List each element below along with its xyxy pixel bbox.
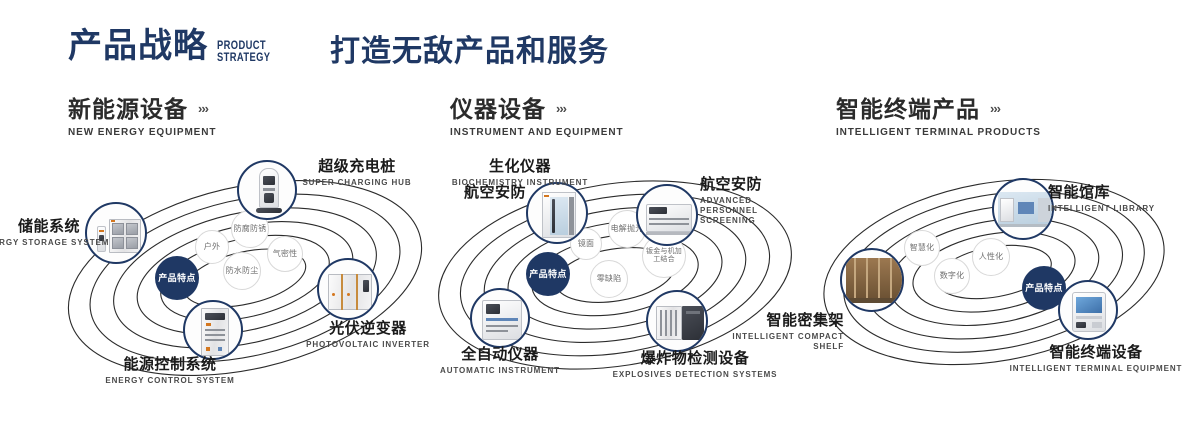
feature-bubble-smart: 智慧化 (904, 230, 940, 266)
section-heading-en: INTELLIGENT TERMINAL PRODUCTS (836, 127, 1041, 138)
section-heading-cn: 智能终端产品 (836, 96, 980, 122)
product-node-intelligent-library[interactable] (992, 178, 1054, 240)
energy-storage-cabinet-icon (87, 204, 145, 262)
cluster-new-energy: 产品特点 户外 防腐防锈 防水防尘 气密性 (55, 160, 435, 390)
product-node-terminal-kiosk[interactable] (1058, 280, 1118, 340)
feature-bubble-airtight: 气密性 (267, 236, 303, 272)
section-heading-cn: 仪器设备 (450, 96, 546, 122)
section-heading-en: NEW ENERGY EQUIPMENT (68, 127, 216, 138)
cluster-instrument: 产品特点 镜面 电解抛光 零缺陷 钣金与机加工结合 航空安防 (430, 160, 810, 390)
product-node-energy-control[interactable] (183, 300, 243, 360)
section-heading-new-energy: 新能源设备 ››› NEW ENERGY EQUIPMENT (68, 96, 216, 138)
product-node-compact-shelf[interactable] (840, 248, 904, 312)
section-heading-en: INSTRUMENT AND EQUIPMENT (450, 127, 623, 138)
control-cabinet-icon (185, 302, 241, 358)
product-label-energy-storage: 储能系统 ENERGY STORAGE SYSTEM (0, 218, 80, 248)
section-heading-intelligent-terminal: 智能终端产品 ››› INTELLIGENT TERMINAL PRODUCTS (836, 96, 1041, 138)
page-title-en: PRODUCT STRATEGY (217, 39, 270, 63)
product-strategy-infographic: 产品战略 PRODUCT STRATEGY 打造无敌产品和服务 新能源设备 ››… (0, 0, 1200, 422)
cluster-intelligent-terminal: 智慧化 数字化 人性化 产品特点 智能馆库 INTELLIGENT LIBRAR… (816, 162, 1186, 387)
page-title-cn: 产品战略 (68, 26, 208, 66)
page-title: 产品战略 PRODUCT STRATEGY (68, 26, 285, 66)
section-heading-instrument: 仪器设备 ››› INSTRUMENT AND EQUIPMENT (450, 96, 623, 138)
product-node-automatic-instrument[interactable] (470, 288, 530, 348)
product-label-terminal-equipment: 智能终端设备 INTELLIGENT TERMINAL EQUIPMENT (1006, 344, 1186, 374)
feature-bubble-digital: 数字化 (934, 258, 970, 294)
chevron-right-icon: ››› (556, 96, 566, 122)
product-label-intelligent-library: 智能馆库 INTELLIGENT LIBRARY (1048, 184, 1198, 214)
product-node-energy-storage[interactable] (85, 202, 147, 264)
feature-bubble-main: 产品特点 (526, 252, 570, 296)
section-heading-cn: 新能源设备 (68, 96, 188, 122)
product-label-explosives-detector: 爆炸物检测设备 EXPLOSIVES DETECTION SYSTEMS (600, 350, 790, 380)
page-subtitle: 打造无敌产品和服务 (330, 32, 609, 72)
page-title-en-line2: STRATEGY (217, 51, 270, 63)
feature-bubble-main: 产品特点 (155, 256, 199, 300)
compact-shelf-icon (842, 250, 902, 310)
inverter-cabinet-icon (319, 260, 377, 318)
automatic-instrument-icon (472, 290, 528, 346)
security-gate-icon (528, 184, 586, 242)
product-label-screening: 航空安防 ADVANCED PERSONNEL SCREENING (700, 176, 830, 226)
chevron-right-icon: ››› (198, 96, 208, 122)
product-node-explosives-detector[interactable] (646, 290, 708, 352)
product-node-security-gate[interactable] (526, 182, 588, 244)
product-label-energy-control: 能源控制系统 ENERGY CONTROL SYSTEM (75, 356, 265, 386)
feature-bubble-outdoor: 户外 (195, 230, 229, 264)
screening-machine-icon (638, 186, 696, 244)
feature-bubble-zero-defect: 零缺陷 (590, 260, 628, 298)
feature-bubble-waterproof: 防水防尘 (223, 252, 261, 290)
explosives-detector-icon (648, 292, 706, 350)
product-label-biochemistry: 生化仪器 BIOCHEMISTRY INSTRUMENT (450, 158, 590, 188)
product-label-automatic-instrument: 全自动仪器 AUTOMATIC INSTRUMENT (415, 346, 585, 376)
feature-bubble-humanized: 人性化 (972, 238, 1010, 276)
product-label-compact-shelf: 智能密集架 INTELLIGENT COMPACT SHELF (724, 312, 844, 352)
terminal-kiosk-icon (1060, 282, 1116, 338)
product-node-screening-machine[interactable] (636, 184, 698, 246)
library-room-icon (994, 180, 1052, 238)
chevron-right-icon: ››› (990, 96, 1000, 122)
product-node-pv-inverter[interactable] (317, 258, 379, 320)
